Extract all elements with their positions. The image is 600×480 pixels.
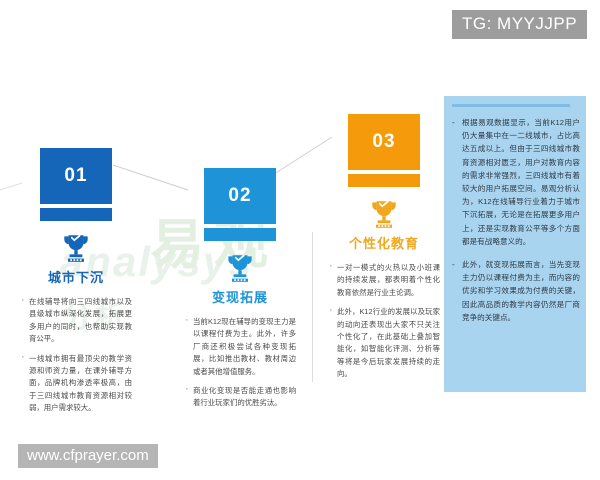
bullet-item: 商业化变现是否能走通也影响着行业玩家们的优胜劣汰。 <box>184 385 296 410</box>
step-title-3: 个性化教育 <box>328 233 440 252</box>
step-card-1[interactable]: 01 城市下沉 在线辅导将向三四线城市以及县级城市纵深化发展，拓展更多用户的同时… <box>20 148 132 422</box>
bullet-item: 此外，K12行业的发展以及玩家的动向还表现出大家不只关注个性化了，在此基础上叠加… <box>328 306 440 380</box>
step-badge-2: 02 <box>204 168 296 241</box>
panel-rule <box>452 104 570 107</box>
step-badge-bar-2 <box>204 228 276 241</box>
step-bullets-1: 在线辅导将向三四线城市以及县级城市纵深化发展，拓展更多用户的同时，也帮助实现教育… <box>20 296 132 415</box>
step-badge-bar-3 <box>348 174 420 187</box>
bullet-item: 当前K12现在辅导的变现主力是以课程付费为主。此外，许多厂商还积极尝试各种变现拓… <box>184 316 296 378</box>
step-title-1: 城市下沉 <box>20 267 132 286</box>
bullet-item: 一对一模式的火热以及小班课的持续发展，都表明着个性化教育依然是行业主论调。 <box>328 262 440 299</box>
step-bullets-3: 一对一模式的火热以及小班课的持续发展，都表明着个性化教育依然是行业主论调。 此外… <box>328 262 440 381</box>
bullet-item: 一线城市拥有最顶尖的教学资源和师资力量，在课外辅导方面，品牌机构渗透率极高，由于… <box>20 353 132 415</box>
step-number-1: 01 <box>40 148 112 204</box>
step-card-2[interactable]: 02 变现拓展 当前K12现在辅导的变现主力是以课程付费为主。此外，许多厂商还积… <box>184 168 296 417</box>
slide-canvas: analysys 分析 易观 01 <box>0 0 600 480</box>
trophy-icon <box>223 251 257 285</box>
step-title-2: 变现拓展 <box>184 287 296 306</box>
step-bullets-2: 当前K12现在辅导的变现主力是以课程付费为主。此外，许多厂商还积极尝试各种变现拓… <box>184 316 296 410</box>
step-number-2: 02 <box>204 168 276 224</box>
step-card-3[interactable]: 03 个性化教育 一对一模式的火热以及小班课的持续发展，都表明着个性化教育依然是… <box>328 114 440 388</box>
watermark-site: www.cfprayer.com <box>18 444 158 468</box>
step-badge-3: 03 <box>348 114 440 187</box>
trophy-icon <box>367 197 401 231</box>
panel-bullet-item: 此外，就变现拓展而言，当先变现主力仍以课程付费为主，而内容的优劣和学习效果成为付… <box>452 258 580 324</box>
watermark-tag: TG: MYYJJPP <box>452 10 587 39</box>
bullet-item: 在线辅导将向三四线城市以及县级城市纵深化发展，拓展更多用户的同时，也帮助实现教育… <box>20 296 132 346</box>
panel-bullet-item: 根据易观数据显示，当前K12用户仍大量集中在一二线城市，占比高达五成以上。但由于… <box>452 116 580 248</box>
step-badge-bar-1 <box>40 208 112 221</box>
step-badge-1: 01 <box>40 148 132 221</box>
column-divider <box>312 232 313 382</box>
trophy-icon <box>59 231 93 265</box>
step-number-3: 03 <box>348 114 420 170</box>
analysis-panel-content: 根据易观数据显示，当前K12用户仍大量集中在一二线城市，占比高达五成以上。但由于… <box>452 104 580 334</box>
